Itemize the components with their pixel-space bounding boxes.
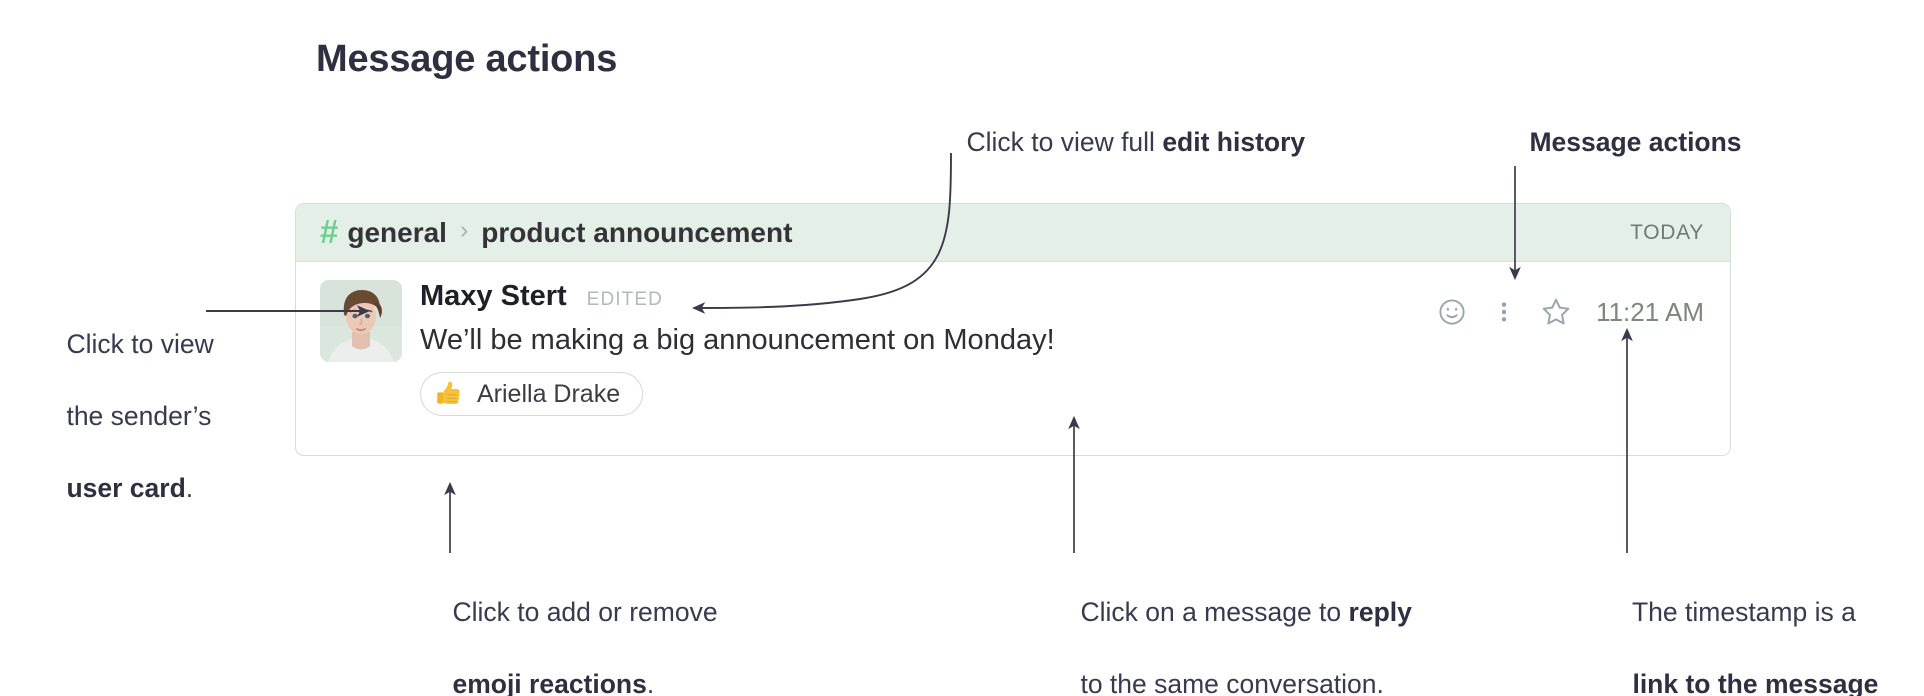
star-icon[interactable] — [1530, 290, 1582, 334]
chevron-right-icon: › — [460, 218, 468, 243]
stream-topic-header: # general › product announcement TODAY — [296, 204, 1730, 262]
annotation-edit-history-line1-bold: edit history — [1162, 127, 1305, 157]
annotation-user-card-line2: the sender’s — [66, 401, 211, 431]
annotation-user-card-line3-post: . — [186, 473, 193, 503]
message-actions-toolbar: 11:21 AM — [1426, 290, 1704, 334]
chat-message-card: # general › product announcement TODAY — [295, 203, 1731, 456]
annotation-edit-history-line1-pre: Click to view full — [966, 127, 1162, 157]
annotation-emoji-line2-post: . — [647, 669, 654, 696]
annotation-reply-line1-pre: Click on a message to — [1080, 597, 1348, 627]
annotation-emoji-line1: Click to add or remove — [452, 597, 717, 627]
message-timestamp[interactable]: 11:21 AM — [1596, 297, 1704, 328]
sender-avatar[interactable] — [320, 280, 402, 362]
annotation-user-card: Click to view the sender’s user card. — [37, 290, 214, 542]
annotation-user-card-line3-bold: user card — [66, 473, 185, 503]
annotation-reply-line1-bold: reply — [1349, 597, 1412, 627]
hash-icon: # — [320, 215, 338, 248]
page-title: Message actions — [316, 38, 617, 81]
sender-name[interactable]: Maxy Stert — [420, 280, 567, 313]
annotation-reply: Click on a message to reply to the same … — [1051, 558, 1412, 696]
date-label: TODAY — [1630, 221, 1704, 245]
annotation-emoji-reactions: Click to add or remove emoji reactions. — [423, 558, 718, 696]
message-actions-menu-icon[interactable] — [1478, 290, 1530, 334]
message-body: Maxy Stert EDITED We’ll be making a big … — [296, 262, 1730, 416]
stream-name[interactable]: general — [347, 217, 447, 249]
annotation-reply-line2: to the same conversation. — [1080, 669, 1383, 696]
annotation-emoji-line2-bold: emoji reactions — [452, 669, 646, 696]
edited-badge[interactable]: EDITED — [587, 289, 663, 311]
annotation-timestamp-line2-bold: link to the message — [1632, 669, 1878, 696]
emoji-reaction-icon[interactable] — [1426, 290, 1478, 334]
annotation-user-card-line1: Click to view — [66, 329, 213, 359]
annotation-actions-menu-line1-bold: Message actions — [1529, 127, 1741, 157]
annotation-timestamp: The timestamp is a link to the message (… — [1603, 558, 1878, 696]
reaction-user-name: Ariella Drake — [477, 380, 620, 409]
emoji-reaction-pill[interactable]: Ariella Drake — [420, 372, 643, 416]
annotation-timestamp-line1: The timestamp is a — [1632, 597, 1856, 627]
topic-name[interactable]: product announcement — [481, 217, 792, 249]
message-actions-illustration: Message actions Click to view full edit … — [0, 0, 1924, 696]
thumbs-up-emoji — [435, 379, 465, 409]
